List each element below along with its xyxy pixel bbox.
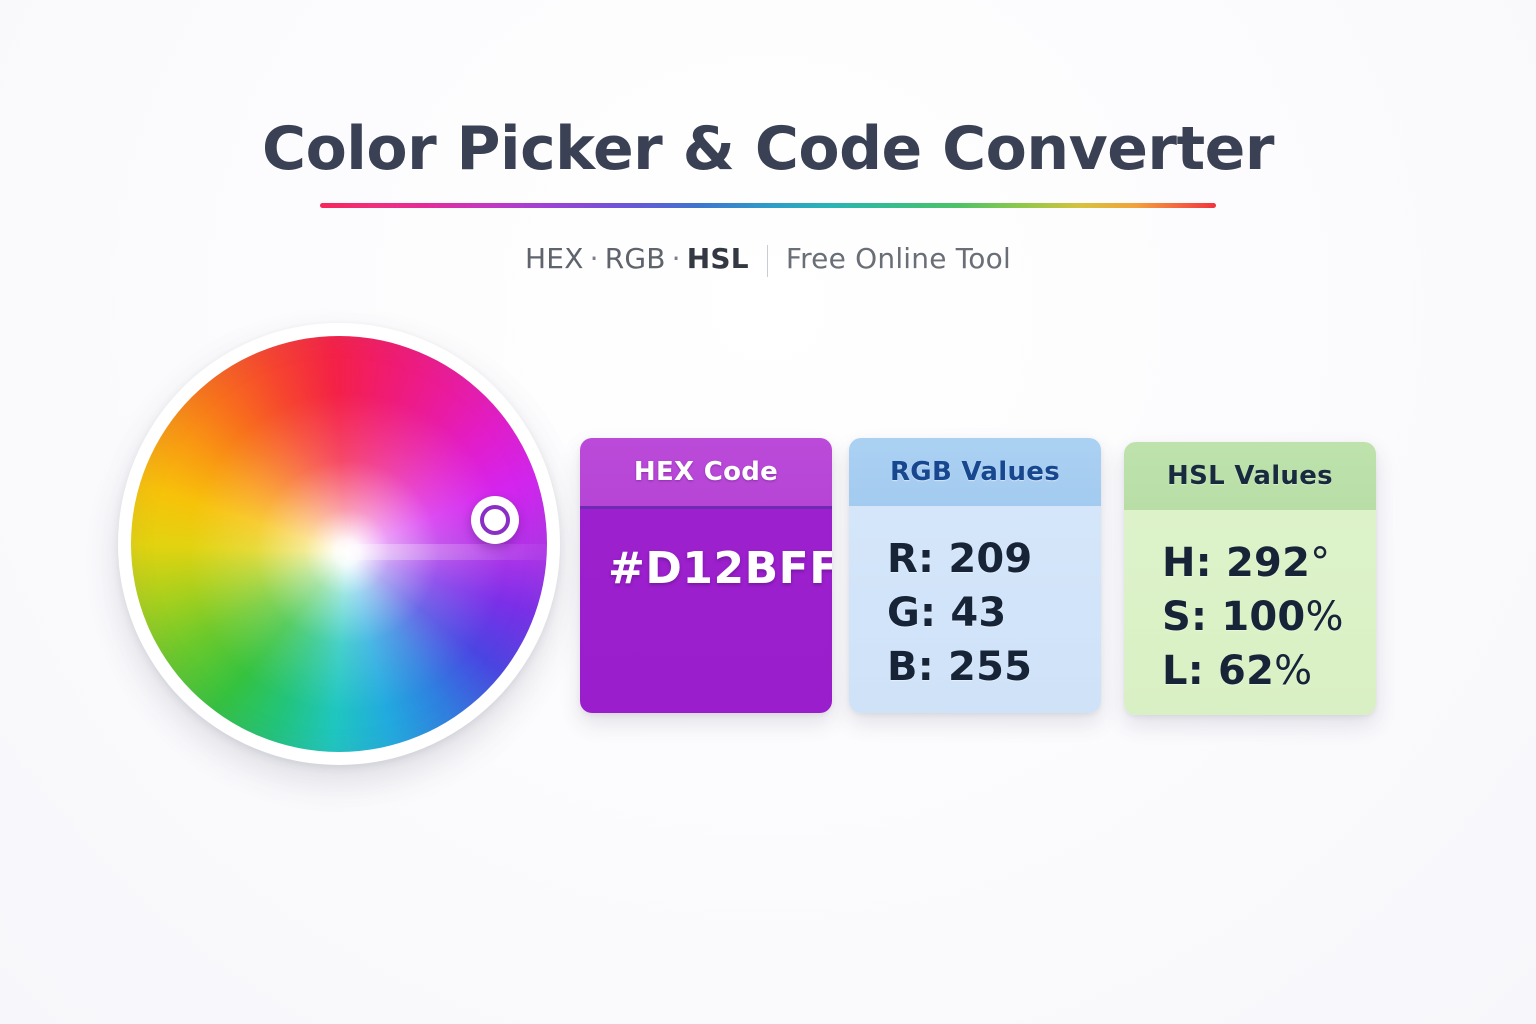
hsl-card-body: H: 292° S: 100% L: 62% (1124, 510, 1376, 715)
rgb-values-card[interactable]: RGB Values R: 209 G: 43 B: 255 (849, 438, 1101, 713)
rgb-line-b: B: 255 (887, 640, 1101, 694)
color-wheel-handle-ring (480, 505, 510, 535)
rgb-value-r: 209 (948, 536, 1032, 582)
rgb-card-body: R: 209 G: 43 B: 255 (849, 506, 1101, 713)
rgb-label-r: R: (887, 536, 934, 582)
rgb-value-g: 43 (950, 590, 1006, 636)
hsl-label-l: L: (1162, 648, 1204, 694)
subtitle-dot-2: · (666, 242, 687, 275)
color-wheel-gradient[interactable] (131, 336, 547, 752)
hex-card-title: HEX Code (580, 438, 832, 509)
color-wheel-handle[interactable] (471, 496, 519, 544)
subtitle-divider (767, 245, 768, 277)
hsl-card-title: HSL Values (1124, 442, 1376, 510)
hex-value[interactable]: #D12BFF (608, 543, 832, 594)
page-background: Color Picker & Code Converter HEX · RGB … (0, 0, 1536, 1024)
hsl-line-l: L: 62% (1162, 644, 1376, 698)
hex-card-body: #D12BFF (580, 509, 832, 713)
rgb-card-title: RGB Values (849, 438, 1101, 506)
subtitle: HEX · RGB · HSL Free Online Tool (0, 242, 1536, 275)
page-header: Color Picker & Code Converter HEX · RGB … (0, 118, 1536, 275)
subtitle-rgb: RGB (605, 242, 666, 275)
color-wheel-seam (347, 544, 547, 560)
rgb-value-b: 255 (948, 644, 1032, 690)
subtitle-hex: HEX (525, 242, 584, 275)
hsl-values-card[interactable]: HSL Values H: 292° S: 100% L: 62% (1124, 442, 1376, 715)
hsl-unit-h: ° (1310, 540, 1330, 586)
rgb-line-r: R: 209 (887, 532, 1101, 586)
hsl-value-s: 100 (1221, 594, 1305, 640)
hsl-line-h: H: 292° (1162, 536, 1376, 590)
hsl-line-s: S: 100% (1162, 590, 1376, 644)
hsl-value-l: 62 (1218, 648, 1274, 694)
hex-code-card[interactable]: HEX Code #D12BFF (580, 438, 832, 713)
subtitle-dot-1: · (584, 242, 605, 275)
page-title: Color Picker & Code Converter (0, 118, 1536, 181)
rainbow-divider (320, 203, 1216, 208)
hsl-label-s: S: (1162, 594, 1207, 640)
subtitle-hsl: HSL (687, 242, 749, 275)
subtitle-tagline: Free Online Tool (786, 242, 1011, 275)
rgb-label-b: B: (887, 644, 934, 690)
rgb-label-g: G: (887, 590, 936, 636)
rgb-line-g: G: 43 (887, 586, 1101, 640)
hsl-unit-s: % (1305, 594, 1343, 640)
hsl-label-h: H: (1162, 540, 1212, 586)
hsl-unit-l: % (1274, 648, 1312, 694)
hsl-value-h: 292 (1226, 540, 1310, 586)
color-wheel[interactable] (118, 323, 560, 765)
